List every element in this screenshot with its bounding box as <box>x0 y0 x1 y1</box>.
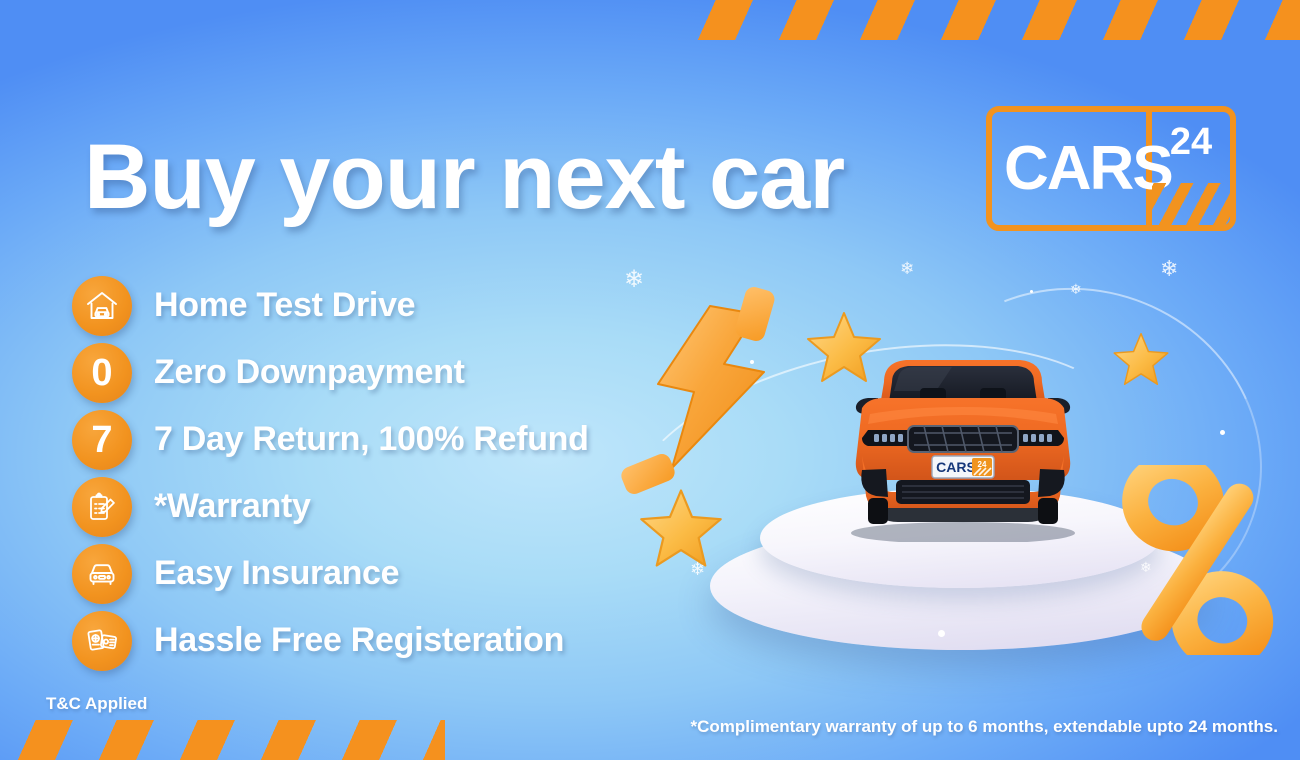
sparkle-dot <box>750 360 754 364</box>
feature-label: Easy Insurance <box>154 554 399 593</box>
badge-digit: 0 <box>91 354 112 392</box>
bottom-left-stripe-decoration <box>0 720 445 760</box>
snowflake-icon: ❄ <box>624 268 644 292</box>
suv-hero-image: CARS 24 <box>832 330 1094 542</box>
top-right-stripe-decoration <box>680 0 1300 40</box>
sparkle-dot <box>1030 290 1033 293</box>
disclaimer-text: *Complimentary warranty of up to 6 month… <box>690 717 1278 737</box>
snowflake-icon: ❄ <box>1160 258 1178 280</box>
snowflake-icon: ❄ <box>1140 560 1152 574</box>
license-plate-text: CARS <box>936 459 976 475</box>
star-icon <box>1112 330 1170 388</box>
feature-item-zero-downpayment[interactable]: 0 Zero Downpayment <box>72 339 589 406</box>
snowflake-icon: ❄ <box>900 260 914 277</box>
feature-label: Hassle Free Registeration <box>154 621 564 660</box>
logo-stripe-decoration <box>1152 183 1230 225</box>
terms-text: T&C Applied <box>46 694 147 714</box>
feature-label: 7 Day Return, 100% Refund <box>154 420 589 459</box>
logo-number: 24 <box>1158 123 1224 161</box>
snowflake-icon: ❄ <box>1070 282 1082 296</box>
hero-scene: ❄ ❄ ❄ ❄ ❄ ❄ <box>600 230 1300 680</box>
sparkle-dot <box>1220 430 1225 435</box>
feature-item-home-test-drive[interactable]: Home Test Drive <box>72 272 589 339</box>
promo-banner: Buy your next car CARS 24 Home Test Driv… <box>0 0 1300 760</box>
page-title: Buy your next car <box>84 131 844 223</box>
feature-list: Home Test Drive 0 Zero Downpayment 7 7 D… <box>72 272 589 674</box>
podium-highlight <box>938 630 945 637</box>
logo-wordmark: CARS <box>1004 138 1144 200</box>
feature-label: *Warranty <box>154 487 311 526</box>
badge-digit: 7 <box>91 421 112 459</box>
zero-digit-icon: 0 <box>72 343 132 403</box>
feature-item-seven-day-return[interactable]: 7 7 Day Return, 100% Refund <box>72 406 589 473</box>
car-front-icon <box>72 544 132 604</box>
home-car-icon <box>72 276 132 336</box>
feature-item-warranty[interactable]: *Warranty <box>72 473 589 540</box>
cars24-logo[interactable]: CARS 24 <box>986 106 1236 231</box>
star-icon <box>638 485 724 571</box>
feature-label: Home Test Drive <box>154 286 415 325</box>
feature-label: Zero Downpayment <box>154 353 465 392</box>
snowflake-icon: ❄ <box>690 560 705 578</box>
clipboard-pen-icon <box>72 477 132 537</box>
feature-item-easy-insurance[interactable]: Easy Insurance <box>72 540 589 607</box>
documents-icon <box>72 611 132 671</box>
seven-digit-icon: 7 <box>72 410 132 470</box>
feature-item-hassle-free-registration[interactable]: Hassle Free Registeration <box>72 607 589 674</box>
percent-symbol-icon <box>1110 465 1285 655</box>
